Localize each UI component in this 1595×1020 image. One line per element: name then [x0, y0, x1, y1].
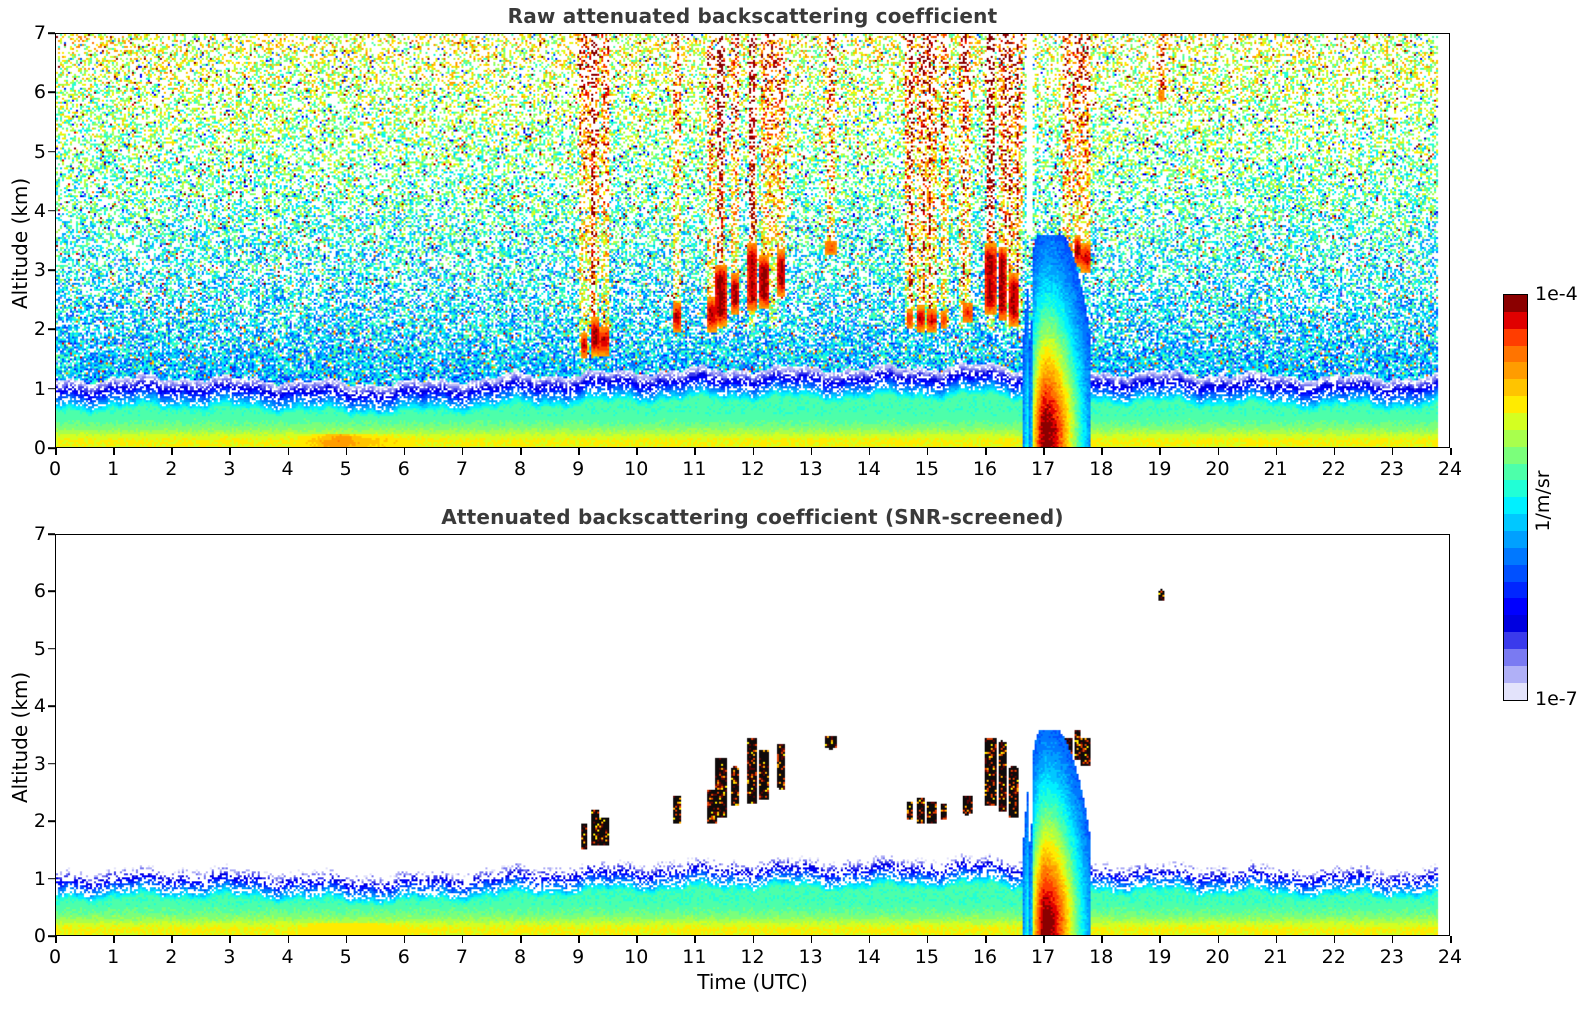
x-tick-mark: [985, 936, 987, 943]
x-tick-mark: [1276, 448, 1278, 455]
y-tick-mark: [48, 91, 55, 93]
x-tick-label: 17: [1031, 946, 1055, 968]
x-tick-label: 3: [223, 946, 235, 968]
raw-y-axis-label: Altitude (km): [8, 179, 32, 309]
x-tick-label: 10: [624, 458, 648, 480]
x-tick-label: 5: [340, 946, 352, 968]
x-tick-label: 15: [915, 946, 939, 968]
colorbar-units-label: 1/m/sr: [1532, 461, 1554, 541]
x-tick-label: 2: [165, 458, 177, 480]
x-tick-label: 20: [1205, 946, 1229, 968]
panel-screened-title: Attenuated backscattering coefficient (S…: [55, 505, 1450, 529]
colorbar-band: [1504, 379, 1527, 396]
x-tick-label: 0: [49, 458, 61, 480]
x-tick-mark: [113, 936, 115, 943]
x-tick-mark: [753, 448, 755, 455]
x-tick-label: 20: [1205, 458, 1229, 480]
raw-backscatter-plot[interactable]: [55, 33, 1450, 448]
colorbar-band: [1504, 582, 1527, 599]
x-tick-mark: [1276, 936, 1278, 943]
x-tick-mark: [1450, 936, 1452, 943]
y-tick-label: 7: [0, 523, 55, 545]
x-tick-label: 22: [1322, 946, 1346, 968]
x-tick-mark: [171, 936, 173, 943]
x-tick-mark: [346, 936, 348, 943]
x-tick-label: 9: [572, 946, 584, 968]
x-tick-mark: [1043, 936, 1045, 943]
x-tick-mark: [462, 448, 464, 455]
x-tick-label: 10: [624, 946, 648, 968]
colorbar-band: [1504, 514, 1527, 531]
colorbar-band: [1504, 565, 1527, 582]
y-tick-mark: [48, 151, 55, 153]
y-tick-label: 6: [0, 81, 55, 103]
x-tick-mark: [636, 936, 638, 943]
x-tick-mark: [404, 448, 406, 455]
y-tick-mark: [48, 533, 55, 535]
x-tick-label: 21: [1264, 458, 1288, 480]
x-tick-mark: [1043, 448, 1045, 455]
y-tick-label: 0: [0, 437, 55, 459]
x-tick-label: 13: [799, 946, 823, 968]
x-tick-label: 16: [973, 458, 997, 480]
x-tick-mark: [520, 936, 522, 943]
screened-heatmap-canvas: [56, 535, 1449, 935]
colorbar-band: [1504, 615, 1527, 632]
colorbar-band: [1504, 447, 1527, 464]
x-tick-label: 9: [572, 458, 584, 480]
x-tick-label: 12: [740, 946, 764, 968]
y-tick-mark: [48, 447, 55, 449]
x-tick-label: 23: [1380, 946, 1404, 968]
x-tick-mark: [927, 936, 929, 943]
x-tick-label: 0: [49, 946, 61, 968]
x-tick-label: 14: [857, 458, 881, 480]
y-tick-mark: [48, 763, 55, 765]
x-tick-mark: [229, 448, 231, 455]
y-tick-label: 6: [0, 580, 55, 602]
colorbar-band: [1504, 480, 1527, 497]
colorbar-band: [1504, 464, 1527, 481]
y-tick-label: 0: [0, 925, 55, 947]
x-tick-mark: [1218, 448, 1220, 455]
colorbar-min-label: 1e-7: [1535, 688, 1578, 710]
colorbar-band: [1504, 295, 1527, 312]
colorbar-gradient[interactable]: [1503, 294, 1528, 701]
x-tick-label: 3: [223, 458, 235, 480]
x-tick-mark: [1334, 448, 1336, 455]
colorbar-band: [1504, 683, 1527, 700]
y-tick-mark: [48, 329, 55, 331]
x-tick-label: 1: [107, 946, 119, 968]
y-tick-mark: [48, 820, 55, 822]
y-tick-label: 1: [0, 868, 55, 890]
x-tick-label: 15: [915, 458, 939, 480]
x-tick-mark: [753, 936, 755, 943]
y-tick-mark: [48, 705, 55, 707]
colorbar-band: [1504, 396, 1527, 413]
x-tick-label: 18: [1089, 458, 1113, 480]
y-tick-label: 2: [0, 810, 55, 832]
colorbar-band: [1504, 497, 1527, 514]
x-tick-mark: [1392, 448, 1394, 455]
colorbar-band: [1504, 548, 1527, 565]
screened-y-axis-label: Altitude (km): [8, 673, 32, 803]
x-tick-label: 13: [799, 458, 823, 480]
screened-x-axis-label: Time (UTC): [55, 970, 1450, 994]
colorbar-band: [1504, 346, 1527, 363]
colorbar-band: [1504, 666, 1527, 683]
x-tick-mark: [694, 448, 696, 455]
colorbar-band: [1504, 413, 1527, 430]
x-tick-mark: [811, 448, 813, 455]
x-tick-mark: [869, 936, 871, 943]
x-tick-mark: [229, 936, 231, 943]
screened-backscatter-plot[interactable]: [55, 534, 1450, 936]
colorbar-band: [1504, 649, 1527, 666]
y-tick-label: 2: [0, 318, 55, 340]
x-tick-mark: [55, 936, 57, 943]
x-tick-mark: [288, 448, 290, 455]
x-tick-mark: [1450, 448, 1452, 455]
x-tick-mark: [811, 936, 813, 943]
colorbar: 1e-4 1e-7 1/m/sr: [1455, 0, 1595, 1020]
y-tick-mark: [48, 648, 55, 650]
x-tick-label: 2: [165, 946, 177, 968]
x-tick-label: 21: [1264, 946, 1288, 968]
x-tick-mark: [1159, 448, 1161, 455]
x-tick-mark: [1392, 936, 1394, 943]
x-tick-label: 14: [857, 946, 881, 968]
y-tick-mark: [48, 210, 55, 212]
y-tick-label: 5: [0, 141, 55, 163]
x-tick-label: 4: [281, 458, 293, 480]
panel-screened: Attenuated backscattering coefficient (S…: [0, 500, 1595, 1020]
x-tick-label: 16: [973, 946, 997, 968]
x-tick-mark: [55, 448, 57, 455]
x-tick-mark: [171, 448, 173, 455]
x-tick-mark: [288, 936, 290, 943]
x-tick-label: 1: [107, 458, 119, 480]
y-tick-mark: [48, 935, 55, 937]
x-tick-label: 4: [281, 946, 293, 968]
x-tick-label: 23: [1380, 458, 1404, 480]
x-tick-label: 8: [514, 458, 526, 480]
x-tick-label: 8: [514, 946, 526, 968]
y-tick-mark: [48, 591, 55, 593]
colorbar-band: [1504, 598, 1527, 615]
x-tick-label: 11: [682, 458, 706, 480]
x-tick-mark: [636, 448, 638, 455]
x-tick-label: 19: [1147, 946, 1171, 968]
x-tick-mark: [985, 448, 987, 455]
y-tick-mark: [48, 269, 55, 271]
x-tick-mark: [869, 448, 871, 455]
raw-heatmap-canvas: [56, 34, 1449, 447]
x-tick-label: 7: [456, 946, 468, 968]
y-tick-label: 5: [0, 638, 55, 660]
y-tick-mark: [48, 878, 55, 880]
x-tick-label: 18: [1089, 946, 1113, 968]
colorbar-band: [1504, 362, 1527, 379]
y-tick-label: 1: [0, 378, 55, 400]
x-tick-mark: [578, 936, 580, 943]
x-tick-mark: [1101, 936, 1103, 943]
x-tick-mark: [1334, 936, 1336, 943]
x-tick-mark: [578, 448, 580, 455]
x-tick-mark: [927, 448, 929, 455]
colorbar-band: [1504, 329, 1527, 346]
colorbar-band: [1504, 632, 1527, 649]
colorbar-max-label: 1e-4: [1535, 283, 1578, 305]
panel-raw-title: Raw attenuated backscattering coefficien…: [55, 4, 1450, 28]
x-tick-label: 12: [740, 458, 764, 480]
x-tick-mark: [1218, 936, 1220, 943]
y-tick-mark: [48, 388, 55, 390]
x-tick-label: 6: [398, 458, 410, 480]
x-tick-mark: [404, 936, 406, 943]
x-tick-label: 5: [340, 458, 352, 480]
colorbar-band: [1504, 430, 1527, 447]
x-tick-label: 19: [1147, 458, 1171, 480]
y-tick-label: 7: [0, 22, 55, 44]
x-tick-label: 11: [682, 946, 706, 968]
x-tick-mark: [462, 936, 464, 943]
x-tick-mark: [346, 448, 348, 455]
x-tick-mark: [1101, 448, 1103, 455]
x-tick-label: 7: [456, 458, 468, 480]
x-tick-label: 6: [398, 946, 410, 968]
colorbar-band: [1504, 312, 1527, 329]
x-tick-mark: [113, 448, 115, 455]
x-tick-mark: [1159, 936, 1161, 943]
x-tick-mark: [520, 448, 522, 455]
colorbar-band: [1504, 531, 1527, 548]
x-tick-mark: [694, 936, 696, 943]
panel-raw: Raw attenuated backscattering coefficien…: [0, 0, 1595, 500]
x-tick-label: 17: [1031, 458, 1055, 480]
x-tick-label: 22: [1322, 458, 1346, 480]
y-tick-mark: [48, 32, 55, 34]
